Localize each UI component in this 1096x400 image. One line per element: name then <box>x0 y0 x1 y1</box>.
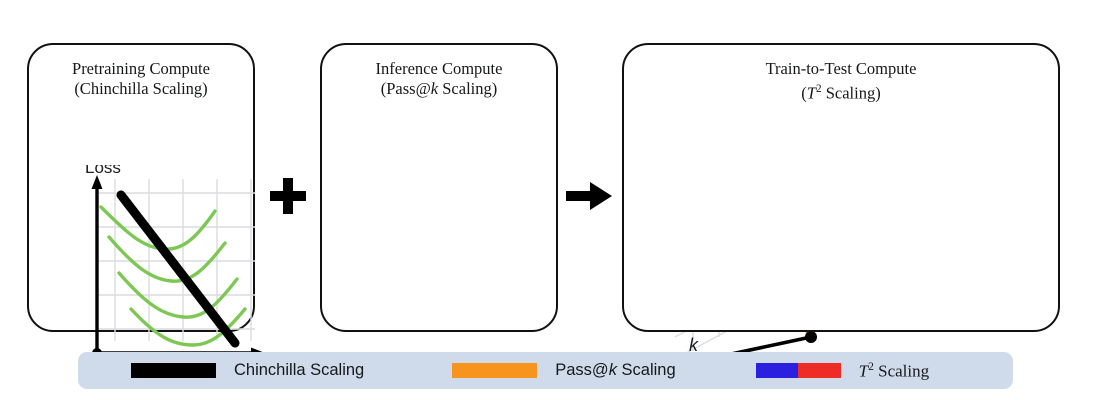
arrow-right-icon <box>566 178 614 214</box>
panel-pretraining-compute: Pretraining Compute (Chinchilla Scaling) <box>27 43 255 332</box>
scaling-law-figure: Pretraining Compute (Chinchilla Scaling) <box>0 0 1096 400</box>
chinchilla-trend-line <box>121 195 235 343</box>
legend-label-chinchilla: Chinchilla Scaling <box>234 361 364 380</box>
panel-pretraining-title-line1: Pretraining Compute <box>72 59 210 78</box>
legend-swatch-blue-red <box>756 363 841 378</box>
panel-inference-title-line1: Inference Compute <box>376 59 503 78</box>
legend-passk-post: Scaling <box>617 361 676 379</box>
legend-item-passk: Pass@k Scaling <box>452 361 675 380</box>
legend-tsq-post: Scaling <box>874 361 929 380</box>
legend-tsq-var: T <box>859 361 868 380</box>
panel-tt-title-line1: Train-to-Test Compute <box>766 59 917 78</box>
legend-swatch-black <box>131 363 216 378</box>
passk-post: Scaling) <box>438 79 497 98</box>
panel-inference-title: Inference Compute (Pass@k Scaling) <box>322 59 556 99</box>
legend-swatch-orange <box>452 363 537 378</box>
tsq-var: T <box>807 84 816 103</box>
pretraining-plot: Loss Parameter Count <box>59 165 281 371</box>
legend-passk-var: k <box>609 361 617 379</box>
legend-label-passk: Pass@k Scaling <box>555 361 675 380</box>
panel-inference-compute: Inference Compute (Pass@k Scaling) <box>320 43 558 332</box>
panel-inference-title-line2: (Pass@k Scaling) <box>322 79 556 99</box>
legend-swatch-blue-half <box>756 363 799 378</box>
panel-train-to-test-compute: Train-to-Test Compute (T2 Scaling) <box>622 43 1060 332</box>
panel-tt-title-line2: (T2 Scaling) <box>624 79 1058 104</box>
passk-pre: (Pass@ <box>381 79 431 98</box>
legend-swatch-red-half <box>798 363 841 378</box>
pretraining-y-axis-label: Loss <box>85 165 121 177</box>
plus-operator-icon <box>268 176 308 216</box>
legend-item-chinchilla: Chinchilla Scaling <box>131 361 364 380</box>
legend-label-tsquared: T2 Scaling <box>859 360 930 382</box>
panel-tt-title: Train-to-Test Compute (T2 Scaling) <box>624 59 1058 104</box>
panel-pretraining-title: Pretraining Compute (Chinchilla Scaling) <box>29 59 253 99</box>
legend-bar: Chinchilla Scaling Pass@k Scaling T2 Sca… <box>78 352 1013 389</box>
legend-passk-pre: Pass@ <box>555 361 608 379</box>
legend-item-tsquared: T2 Scaling <box>756 360 930 382</box>
panel-pretraining-title-line2: (Chinchilla Scaling) <box>29 79 253 99</box>
tsq-post: Scaling) <box>822 84 881 103</box>
